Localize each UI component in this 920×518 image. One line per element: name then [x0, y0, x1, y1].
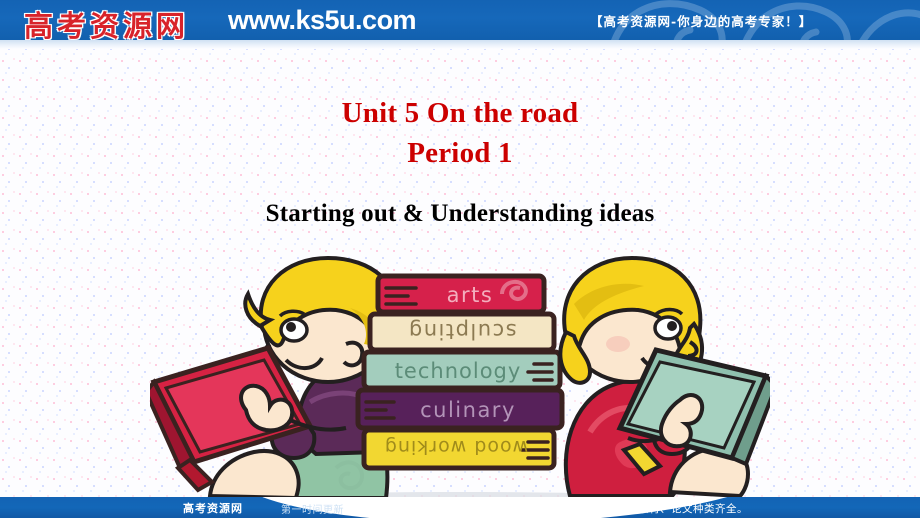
book-label-technology: technology: [395, 359, 522, 383]
footer-slogan: 第一时间更新: [281, 501, 344, 516]
slide-title-block: Unit 5 On the road Period 1: [0, 96, 920, 170]
book-spine-sculpting: sculpting: [370, 314, 554, 350]
book-label-wood-working: wood working: [384, 436, 528, 458]
slide-canvas: 高考资源网 www.ks5u.com 【高考资源网-你身边的高考专家！】 Uni…: [0, 0, 920, 518]
illustration-svg: arts sculpting technology cu: [150, 252, 770, 510]
book-stack: arts sculpting technology cu: [358, 276, 562, 468]
book-label-culinary: culinary: [420, 398, 516, 422]
girl-cheek: [606, 336, 630, 352]
site-footer-banner: 高考资源网 第一时间更新 案、学案、素材、论文种类齐全。: [0, 497, 920, 518]
book-spine-wood-working: wood working: [364, 430, 554, 468]
header-tagline: 【高考资源网-你身边的高考专家！】: [590, 11, 812, 30]
girl-pupil: [667, 321, 677, 331]
header-website-url[interactable]: www.ks5u.com: [228, 5, 416, 36]
slide-title-line-2: Period 1: [0, 136, 920, 170]
book-label-sculpting: sculpting: [407, 319, 516, 343]
header-fade-divider: [0, 40, 920, 49]
header-logo-text: 高考资源网: [24, 3, 189, 40]
slide-subtitle: Starting out & Understanding ideas: [0, 200, 920, 228]
book-label-arts: arts: [447, 283, 494, 307]
boy-pupil: [286, 322, 296, 332]
book-spine-arts: arts: [378, 276, 544, 312]
footer-note: 案、学案、素材、论文种类齐全。: [583, 501, 748, 516]
site-header-banner: 高考资源网 www.ks5u.com 【高考资源网-你身边的高考专家！】: [0, 0, 920, 40]
illustration-two-children-reading: arts sculpting technology cu: [150, 252, 770, 510]
book-spine-technology: technology: [364, 352, 560, 388]
boy-ear: [344, 343, 362, 366]
slide-title-line-1: Unit 5 On the road: [0, 96, 920, 130]
footer-brand: 高考资源网: [183, 500, 243, 516]
book-spine-culinary: culinary: [358, 390, 562, 428]
right-child-girl: [560, 258, 770, 496]
